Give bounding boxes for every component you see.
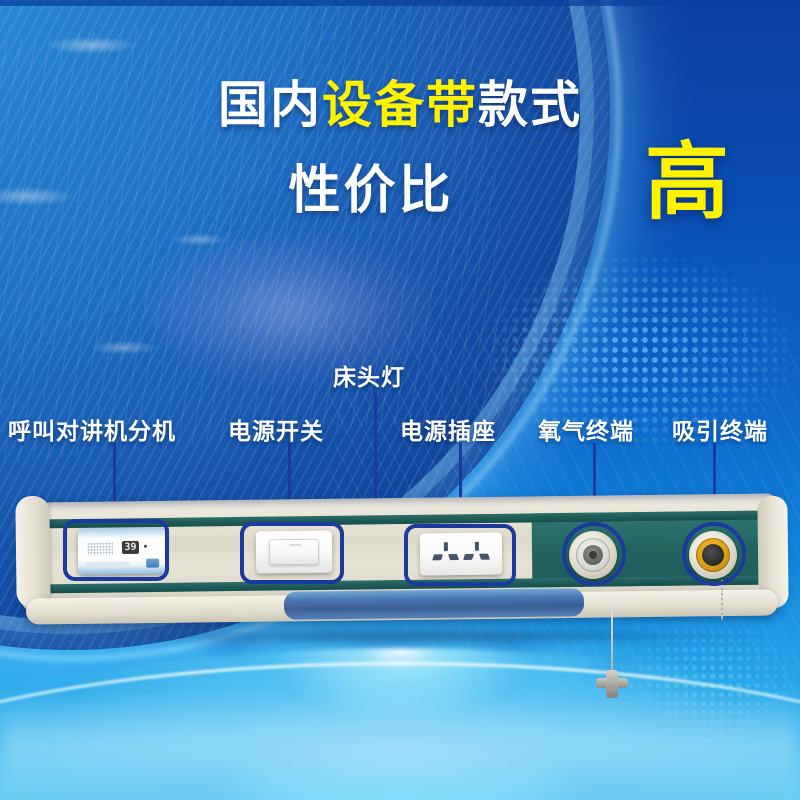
intercom-device[interactable]: 39 (78, 527, 167, 574)
callout-label-power-socket: 电源插座 (400, 412, 496, 446)
socket-pin-right (479, 554, 490, 560)
top-edge-bar (0, 0, 800, 6)
panel-blue-cover (284, 588, 584, 620)
rocker-switch[interactable] (269, 539, 319, 566)
socket-outlet-right[interactable] (462, 542, 492, 566)
callout-label-power-switch: 电源开关 (228, 412, 324, 446)
socket-pin-right (448, 554, 459, 560)
oxygen-port-hole (589, 551, 597, 559)
callout-label-bed-lamp: 床头灯 (333, 358, 405, 392)
callout-label-oxygen: 氧气终端 (538, 412, 634, 446)
intercom-display: 39 (122, 541, 139, 554)
headline-part-3: 款式 (478, 76, 582, 134)
speaker-grille-icon (87, 542, 113, 555)
power-socket-device[interactable] (420, 533, 503, 576)
emphasis-character: 高 (645, 140, 729, 224)
socket-pin-left (463, 554, 474, 560)
bottom-glow (0, 690, 800, 800)
panel-drop-shadow (30, 628, 775, 644)
intercom-slot (86, 562, 130, 567)
callout-label-suction: 吸引终端 (672, 412, 768, 446)
socket-outlet-left[interactable] (431, 542, 461, 566)
headline-part-1: 国内 (218, 76, 322, 134)
socket-pin-left (432, 554, 443, 560)
suction-terminal-device[interactable] (689, 531, 737, 579)
suction-tube (721, 580, 723, 620)
socket-pin-vertical (475, 542, 479, 551)
intercom-call-button[interactable] (146, 559, 159, 568)
subheadline-text: 性价比 (288, 161, 453, 221)
callout-label-intercom: 呼叫对讲机分机 (8, 412, 176, 446)
rocker-marking (289, 544, 301, 546)
power-switch-device[interactable] (256, 531, 333, 574)
panel-endcap-left (15, 496, 50, 608)
headline-line-1: 国内设备带款式 (0, 76, 800, 134)
headline-part-2: 设备带 (322, 76, 478, 134)
oxygen-terminal-device[interactable] (569, 531, 617, 579)
suction-core (702, 544, 724, 566)
promo-banner: 国内设备带款式 性价比 高 呼叫对讲机分机 电源开关 床头灯 电源插座 氧气终端… (0, 0, 800, 800)
indicator-led-icon (144, 545, 147, 548)
pendant-fitting-vertical (606, 670, 618, 698)
socket-pin-vertical (444, 542, 448, 551)
